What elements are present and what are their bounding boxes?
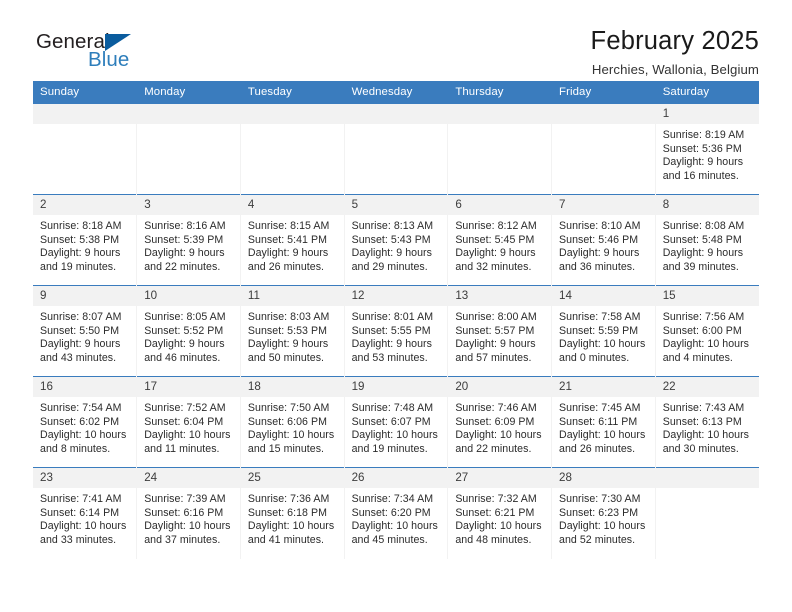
sunset-text: Sunset: 5:48 PM <box>663 234 753 248</box>
calendar-day-cell[interactable]: 16Sunrise: 7:54 AMSunset: 6:02 PMDayligh… <box>33 377 137 468</box>
sunrise-text: Sunrise: 8:05 AM <box>144 311 234 325</box>
sunset-text: Sunset: 6:11 PM <box>559 416 649 430</box>
day-details: Sunrise: 7:32 AMSunset: 6:21 PMDaylight:… <box>448 488 551 547</box>
daylight-text: Daylight: 10 hours and 52 minutes. <box>559 520 649 547</box>
day-number: 2 <box>33 195 136 215</box>
calendar-day-cell[interactable]: 26Sunrise: 7:34 AMSunset: 6:20 PMDayligh… <box>344 468 448 559</box>
daylight-text: Daylight: 10 hours and 22 minutes. <box>455 429 545 456</box>
day-details: Sunrise: 8:18 AMSunset: 5:38 PMDaylight:… <box>33 215 136 274</box>
calendar-day-cell[interactable]: 5Sunrise: 8:13 AMSunset: 5:43 PMDaylight… <box>344 195 448 286</box>
calendar-day-cell[interactable]: 12Sunrise: 8:01 AMSunset: 5:55 PMDayligh… <box>344 286 448 377</box>
sunrise-text: Sunrise: 8:16 AM <box>144 220 234 234</box>
sunrise-text: Sunrise: 8:19 AM <box>663 129 753 143</box>
sunset-text: Sunset: 6:13 PM <box>663 416 753 430</box>
daylight-text: Daylight: 10 hours and 15 minutes. <box>248 429 338 456</box>
day-number: 26 <box>345 468 448 488</box>
daylight-text: Daylight: 9 hours and 39 minutes. <box>663 247 753 274</box>
daylight-text: Daylight: 9 hours and 36 minutes. <box>559 247 649 274</box>
day-number: 22 <box>656 377 759 397</box>
sunrise-text: Sunrise: 7:30 AM <box>559 493 649 507</box>
day-number: 7 <box>552 195 655 215</box>
day-number: 16 <box>33 377 136 397</box>
sunset-text: Sunset: 6:02 PM <box>40 416 130 430</box>
calendar-day-cell[interactable]: 17Sunrise: 7:52 AMSunset: 6:04 PMDayligh… <box>137 377 241 468</box>
sunrise-text: Sunrise: 7:32 AM <box>455 493 545 507</box>
day-details: Sunrise: 8:10 AMSunset: 5:46 PMDaylight:… <box>552 215 655 274</box>
sunset-text: Sunset: 6:00 PM <box>663 325 753 339</box>
day-details: Sunrise: 8:15 AMSunset: 5:41 PMDaylight:… <box>241 215 344 274</box>
daylight-text: Daylight: 10 hours and 37 minutes. <box>144 520 234 547</box>
sunrise-text: Sunrise: 7:43 AM <box>663 402 753 416</box>
calendar-empty-cell <box>344 104 448 195</box>
day-number: 12 <box>345 286 448 306</box>
weekday-header-monday: Monday <box>137 81 241 104</box>
daylight-text: Daylight: 10 hours and 11 minutes. <box>144 429 234 456</box>
sunrise-text: Sunrise: 7:52 AM <box>144 402 234 416</box>
daylight-text: Daylight: 9 hours and 43 minutes. <box>40 338 130 365</box>
calendar-day-cell[interactable]: 25Sunrise: 7:36 AMSunset: 6:18 PMDayligh… <box>240 468 344 559</box>
sunrise-text: Sunrise: 8:03 AM <box>248 311 338 325</box>
daylight-text: Daylight: 10 hours and 33 minutes. <box>40 520 130 547</box>
calendar-day-cell[interactable]: 7Sunrise: 8:10 AMSunset: 5:46 PMDaylight… <box>552 195 656 286</box>
day-details: Sunrise: 7:43 AMSunset: 6:13 PMDaylight:… <box>656 397 759 456</box>
calendar-day-cell[interactable]: 11Sunrise: 8:03 AMSunset: 5:53 PMDayligh… <box>240 286 344 377</box>
calendar-week-row: 9Sunrise: 8:07 AMSunset: 5:50 PMDaylight… <box>33 286 759 377</box>
daylight-text: Daylight: 9 hours and 29 minutes. <box>352 247 442 274</box>
day-number: 3 <box>137 195 240 215</box>
day-number: 28 <box>552 468 655 488</box>
day-details: Sunrise: 8:00 AMSunset: 5:57 PMDaylight:… <box>448 306 551 365</box>
sunrise-text: Sunrise: 8:01 AM <box>352 311 442 325</box>
calendar-day-cell[interactable]: 4Sunrise: 8:15 AMSunset: 5:41 PMDaylight… <box>240 195 344 286</box>
sunrise-text: Sunrise: 8:10 AM <box>559 220 649 234</box>
sunset-text: Sunset: 5:45 PM <box>455 234 545 248</box>
sunrise-text: Sunrise: 7:58 AM <box>559 311 649 325</box>
calendar-day-cell[interactable]: 18Sunrise: 7:50 AMSunset: 6:06 PMDayligh… <box>240 377 344 468</box>
sunrise-sunset-calendar: Sunday Monday Tuesday Wednesday Thursday… <box>33 81 759 559</box>
day-details: Sunrise: 7:48 AMSunset: 6:07 PMDaylight:… <box>345 397 448 456</box>
day-number: 18 <box>241 377 344 397</box>
sunrise-text: Sunrise: 7:39 AM <box>144 493 234 507</box>
sunset-text: Sunset: 5:53 PM <box>248 325 338 339</box>
weekday-header-tuesday: Tuesday <box>240 81 344 104</box>
calendar-day-cell[interactable]: 2Sunrise: 8:18 AMSunset: 5:38 PMDaylight… <box>33 195 137 286</box>
weekday-header-friday: Friday <box>552 81 656 104</box>
sunrise-text: Sunrise: 8:18 AM <box>40 220 130 234</box>
day-details: Sunrise: 7:50 AMSunset: 6:06 PMDaylight:… <box>241 397 344 456</box>
day-details: Sunrise: 8:01 AMSunset: 5:55 PMDaylight:… <box>345 306 448 365</box>
calendar-day-cell[interactable]: 23Sunrise: 7:41 AMSunset: 6:14 PMDayligh… <box>33 468 137 559</box>
weekday-header-sunday: Sunday <box>33 81 137 104</box>
calendar-empty-cell <box>137 104 241 195</box>
day-number <box>656 468 759 488</box>
calendar-header-row: Sunday Monday Tuesday Wednesday Thursday… <box>33 81 759 104</box>
day-details: Sunrise: 8:16 AMSunset: 5:39 PMDaylight:… <box>137 215 240 274</box>
sunset-text: Sunset: 6:18 PM <box>248 507 338 521</box>
daylight-text: Daylight: 10 hours and 4 minutes. <box>663 338 753 365</box>
calendar-empty-cell <box>655 468 759 559</box>
sunset-text: Sunset: 6:16 PM <box>144 507 234 521</box>
calendar-day-cell[interactable]: 3Sunrise: 8:16 AMSunset: 5:39 PMDaylight… <box>137 195 241 286</box>
daylight-text: Daylight: 9 hours and 57 minutes. <box>455 338 545 365</box>
calendar-empty-cell <box>448 104 552 195</box>
day-details: Sunrise: 7:41 AMSunset: 6:14 PMDaylight:… <box>33 488 136 547</box>
sunset-text: Sunset: 5:55 PM <box>352 325 442 339</box>
day-details: Sunrise: 8:07 AMSunset: 5:50 PMDaylight:… <box>33 306 136 365</box>
sunrise-text: Sunrise: 8:12 AM <box>455 220 545 234</box>
sunset-text: Sunset: 5:52 PM <box>144 325 234 339</box>
sunrise-text: Sunrise: 7:46 AM <box>455 402 545 416</box>
day-details: Sunrise: 8:03 AMSunset: 5:53 PMDaylight:… <box>241 306 344 365</box>
sunset-text: Sunset: 6:21 PM <box>455 507 545 521</box>
day-details: Sunrise: 8:12 AMSunset: 5:45 PMDaylight:… <box>448 215 551 274</box>
sunrise-text: Sunrise: 7:45 AM <box>559 402 649 416</box>
sunset-text: Sunset: 6:14 PM <box>40 507 130 521</box>
day-details: Sunrise: 7:30 AMSunset: 6:23 PMDaylight:… <box>552 488 655 547</box>
day-number: 10 <box>137 286 240 306</box>
sunrise-text: Sunrise: 7:56 AM <box>663 311 753 325</box>
calendar-page: General Blue February 2025 Herchies, Wal… <box>0 0 792 612</box>
day-number: 6 <box>448 195 551 215</box>
sunset-text: Sunset: 5:57 PM <box>455 325 545 339</box>
calendar-day-cell[interactable]: 15Sunrise: 7:56 AMSunset: 6:00 PMDayligh… <box>655 286 759 377</box>
day-details: Sunrise: 7:58 AMSunset: 5:59 PMDaylight:… <box>552 306 655 365</box>
day-number: 27 <box>448 468 551 488</box>
day-details: Sunrise: 7:36 AMSunset: 6:18 PMDaylight:… <box>241 488 344 547</box>
weekday-header-saturday: Saturday <box>655 81 759 104</box>
calendar-day-cell[interactable]: 21Sunrise: 7:45 AMSunset: 6:11 PMDayligh… <box>552 377 656 468</box>
daylight-text: Daylight: 10 hours and 45 minutes. <box>352 520 442 547</box>
sunrise-text: Sunrise: 8:07 AM <box>40 311 130 325</box>
daylight-text: Daylight: 9 hours and 46 minutes. <box>144 338 234 365</box>
day-details: Sunrise: 8:05 AMSunset: 5:52 PMDaylight:… <box>137 306 240 365</box>
sunset-text: Sunset: 5:59 PM <box>559 325 649 339</box>
daylight-text: Daylight: 10 hours and 48 minutes. <box>455 520 545 547</box>
day-details: Sunrise: 8:19 AMSunset: 5:36 PMDaylight:… <box>656 124 759 183</box>
calendar-body: 1Sunrise: 8:19 AMSunset: 5:36 PMDaylight… <box>33 104 759 559</box>
sunrise-text: Sunrise: 7:48 AM <box>352 402 442 416</box>
sunset-text: Sunset: 6:04 PM <box>144 416 234 430</box>
sunset-text: Sunset: 6:06 PM <box>248 416 338 430</box>
daylight-text: Daylight: 10 hours and 8 minutes. <box>40 429 130 456</box>
calendar-day-cell[interactable]: 10Sunrise: 8:05 AMSunset: 5:52 PMDayligh… <box>137 286 241 377</box>
day-details: Sunrise: 7:34 AMSunset: 6:20 PMDaylight:… <box>345 488 448 547</box>
day-number: 20 <box>448 377 551 397</box>
day-number <box>552 104 655 124</box>
calendar-day-cell[interactable]: 13Sunrise: 8:00 AMSunset: 5:57 PMDayligh… <box>448 286 552 377</box>
calendar-day-cell[interactable]: 24Sunrise: 7:39 AMSunset: 6:16 PMDayligh… <box>137 468 241 559</box>
calendar-day-cell[interactable]: 9Sunrise: 8:07 AMSunset: 5:50 PMDaylight… <box>33 286 137 377</box>
sunset-text: Sunset: 5:36 PM <box>663 143 753 157</box>
sunrise-text: Sunrise: 8:15 AM <box>248 220 338 234</box>
daylight-text: Daylight: 9 hours and 53 minutes. <box>352 338 442 365</box>
day-number: 9 <box>33 286 136 306</box>
calendar-day-cell[interactable]: 20Sunrise: 7:46 AMSunset: 6:09 PMDayligh… <box>448 377 552 468</box>
sunset-text: Sunset: 6:07 PM <box>352 416 442 430</box>
day-number <box>137 104 240 124</box>
daylight-text: Daylight: 10 hours and 0 minutes. <box>559 338 649 365</box>
daylight-text: Daylight: 9 hours and 32 minutes. <box>455 247 545 274</box>
day-number <box>448 104 551 124</box>
calendar-day-cell[interactable]: 22Sunrise: 7:43 AMSunset: 6:13 PMDayligh… <box>655 377 759 468</box>
sunrise-text: Sunrise: 7:41 AM <box>40 493 130 507</box>
day-number: 19 <box>345 377 448 397</box>
daylight-text: Daylight: 10 hours and 19 minutes. <box>352 429 442 456</box>
day-number <box>241 104 344 124</box>
calendar-week-row: 23Sunrise: 7:41 AMSunset: 6:14 PMDayligh… <box>33 468 759 559</box>
daylight-text: Daylight: 9 hours and 26 minutes. <box>248 247 338 274</box>
day-number: 24 <box>137 468 240 488</box>
page-header: General Blue February 2025 Herchies, Wal… <box>33 0 759 74</box>
day-number: 14 <box>552 286 655 306</box>
logo-text-blue: Blue <box>88 48 129 72</box>
general-blue-logo[interactable]: General Blue <box>33 30 243 80</box>
calendar-day-cell[interactable]: 8Sunrise: 8:08 AMSunset: 5:48 PMDaylight… <box>655 195 759 286</box>
daylight-text: Daylight: 9 hours and 50 minutes. <box>248 338 338 365</box>
day-number: 15 <box>656 286 759 306</box>
day-number <box>345 104 448 124</box>
day-number: 5 <box>345 195 448 215</box>
sunset-text: Sunset: 5:50 PM <box>40 325 130 339</box>
day-details: Sunrise: 8:08 AMSunset: 5:48 PMDaylight:… <box>656 215 759 274</box>
day-details: Sunrise: 7:46 AMSunset: 6:09 PMDaylight:… <box>448 397 551 456</box>
day-number: 1 <box>656 104 759 124</box>
calendar-empty-cell <box>552 104 656 195</box>
sunrise-text: Sunrise: 7:36 AM <box>248 493 338 507</box>
sunrise-text: Sunrise: 7:50 AM <box>248 402 338 416</box>
calendar-day-cell[interactable]: 1Sunrise: 8:19 AMSunset: 5:36 PMDaylight… <box>655 104 759 195</box>
day-number <box>33 104 136 124</box>
day-number: 13 <box>448 286 551 306</box>
sunset-text: Sunset: 6:09 PM <box>455 416 545 430</box>
calendar-day-cell[interactable]: 14Sunrise: 7:58 AMSunset: 5:59 PMDayligh… <box>552 286 656 377</box>
sunset-text: Sunset: 6:20 PM <box>352 507 442 521</box>
sunrise-text: Sunrise: 7:34 AM <box>352 493 442 507</box>
day-details: Sunrise: 7:54 AMSunset: 6:02 PMDaylight:… <box>33 397 136 456</box>
daylight-text: Daylight: 10 hours and 26 minutes. <box>559 429 649 456</box>
day-details: Sunrise: 8:13 AMSunset: 5:43 PMDaylight:… <box>345 215 448 274</box>
sunset-text: Sunset: 6:23 PM <box>559 507 649 521</box>
calendar-day-cell[interactable]: 19Sunrise: 7:48 AMSunset: 6:07 PMDayligh… <box>344 377 448 468</box>
sunset-text: Sunset: 5:39 PM <box>144 234 234 248</box>
calendar-empty-cell <box>33 104 137 195</box>
daylight-text: Daylight: 9 hours and 22 minutes. <box>144 247 234 274</box>
sunset-text: Sunset: 5:38 PM <box>40 234 130 248</box>
day-number: 4 <box>241 195 344 215</box>
weekday-header-wednesday: Wednesday <box>344 81 448 104</box>
daylight-text: Daylight: 9 hours and 19 minutes. <box>40 247 130 274</box>
daylight-text: Daylight: 10 hours and 41 minutes. <box>248 520 338 547</box>
daylight-text: Daylight: 9 hours and 16 minutes. <box>663 156 753 183</box>
sunrise-text: Sunrise: 8:00 AM <box>455 311 545 325</box>
day-number: 11 <box>241 286 344 306</box>
calendar-week-row: 16Sunrise: 7:54 AMSunset: 6:02 PMDayligh… <box>33 377 759 468</box>
calendar-day-cell[interactable]: 28Sunrise: 7:30 AMSunset: 6:23 PMDayligh… <box>552 468 656 559</box>
day-details: Sunrise: 7:56 AMSunset: 6:00 PMDaylight:… <box>656 306 759 365</box>
day-number: 17 <box>137 377 240 397</box>
sunrise-text: Sunrise: 8:08 AM <box>663 220 753 234</box>
sunset-text: Sunset: 5:41 PM <box>248 234 338 248</box>
calendar-day-cell[interactable]: 27Sunrise: 7:32 AMSunset: 6:21 PMDayligh… <box>448 468 552 559</box>
day-number: 23 <box>33 468 136 488</box>
sunrise-text: Sunrise: 8:13 AM <box>352 220 442 234</box>
weekday-header-thursday: Thursday <box>448 81 552 104</box>
sunset-text: Sunset: 5:46 PM <box>559 234 649 248</box>
day-details: Sunrise: 7:52 AMSunset: 6:04 PMDaylight:… <box>137 397 240 456</box>
daylight-text: Daylight: 10 hours and 30 minutes. <box>663 429 753 456</box>
day-number: 8 <box>656 195 759 215</box>
day-number: 25 <box>241 468 344 488</box>
calendar-empty-cell <box>240 104 344 195</box>
sunrise-text: Sunrise: 7:54 AM <box>40 402 130 416</box>
calendar-week-row: 1Sunrise: 8:19 AMSunset: 5:36 PMDaylight… <box>33 104 759 195</box>
day-number: 21 <box>552 377 655 397</box>
day-details: Sunrise: 7:39 AMSunset: 6:16 PMDaylight:… <box>137 488 240 547</box>
sunset-text: Sunset: 5:43 PM <box>352 234 442 248</box>
day-details: Sunrise: 7:45 AMSunset: 6:11 PMDaylight:… <box>552 397 655 456</box>
calendar-day-cell[interactable]: 6Sunrise: 8:12 AMSunset: 5:45 PMDaylight… <box>448 195 552 286</box>
calendar-week-row: 2Sunrise: 8:18 AMSunset: 5:38 PMDaylight… <box>33 195 759 286</box>
